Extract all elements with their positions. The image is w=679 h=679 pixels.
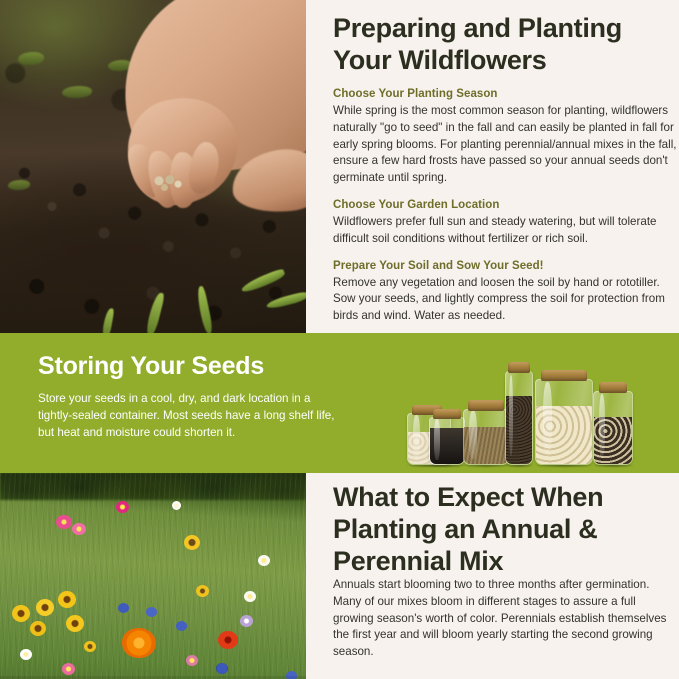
storing-text-column: Storing Your Seeds Store your seeds in a… — [38, 351, 338, 441]
block-prepare-soil: Prepare Your Soil and Sow Your Seed! Rem… — [333, 259, 679, 325]
flower-blue — [216, 663, 228, 674]
page-title-what-to-expect: What to Expect When Planting an Annual &… — [333, 481, 679, 577]
section-storing-your-seeds: Storing Your Seeds Store your seeds in a… — [0, 333, 679, 473]
flower-yellow — [196, 585, 209, 597]
flower-magenta — [116, 501, 129, 513]
jar-cork — [433, 409, 461, 419]
body-prepare-soil: Remove any vegetation and loosen the soi… — [333, 275, 679, 325]
wildflower-meadow-photo — [0, 473, 306, 679]
block-garden-location: Choose Your Garden Location Wildflowers … — [333, 198, 679, 248]
body-garden-location: Wildflowers prefer full sun and steady w… — [333, 214, 679, 248]
jar-cork — [541, 370, 587, 381]
flower-blue — [176, 621, 187, 631]
seed-jar-pumpkin-seeds — [535, 379, 593, 465]
jar-glass-highlight — [434, 419, 440, 460]
seed-jar-mixed-dark — [593, 391, 633, 465]
flower-pink — [186, 655, 198, 666]
seed-jar-tall-dark — [505, 371, 533, 465]
subheading-planting-season: Choose Your Planting Season — [333, 87, 679, 102]
flower-blue — [146, 607, 157, 617]
flower-yellow — [58, 591, 76, 608]
body-storing: Store your seeds in a cool, dry, and dar… — [38, 390, 338, 441]
jar-group — [375, 351, 665, 469]
jar-glass-highlight — [599, 394, 605, 458]
flower-yellow — [12, 605, 30, 622]
infographic-page: Preparing and Planting Your Wildflowers … — [0, 0, 679, 679]
flower-pink — [72, 523, 86, 535]
section-what-to-expect: What to Expect When Planting an Annual &… — [0, 473, 679, 679]
body-what-to-expect: Annuals start blooming two to three mont… — [333, 577, 679, 661]
jar-cork — [468, 400, 504, 411]
jar-glass-highlight — [543, 382, 552, 456]
flower-white — [258, 555, 270, 566]
jar-glass-highlight — [413, 415, 420, 460]
flower-yellow — [30, 621, 46, 636]
flower-yellow — [84, 641, 96, 652]
flower-yellow — [36, 599, 54, 616]
preparing-text-column: Preparing and Planting Your Wildflowers … — [333, 0, 679, 333]
page-title-preparing: Preparing and Planting Your Wildflowers — [333, 12, 679, 76]
jar-cork — [508, 362, 530, 373]
flower-white — [172, 501, 181, 510]
flower-yellow — [184, 535, 200, 550]
red-poppy-flower — [218, 631, 238, 649]
flower-white — [244, 591, 256, 602]
seed-jar-black-seeds — [429, 417, 465, 465]
flower-white — [20, 649, 32, 660]
seed-jar-fine-brown — [463, 409, 509, 465]
flower-pink — [56, 515, 72, 529]
flower-yellow — [66, 615, 84, 632]
seeds-in-hand — [150, 172, 186, 194]
flower-blue — [118, 603, 129, 613]
body-planting-season: While spring is the most common season f… — [333, 103, 679, 187]
jar-glass-highlight — [469, 411, 476, 459]
seed-jars-photo — [375, 351, 665, 469]
subheading-garden-location: Choose Your Garden Location — [333, 198, 679, 213]
section-preparing-and-planting: Preparing and Planting Your Wildflowers … — [0, 0, 679, 333]
what-to-expect-text-column: What to Expect When Planting an Annual &… — [333, 473, 679, 679]
flower-pink — [62, 663, 75, 675]
page-title-storing: Storing Your Seeds — [38, 351, 338, 381]
subheading-prepare-soil: Prepare Your Soil and Sow Your Seed! — [333, 259, 679, 274]
flower-lavender — [240, 615, 253, 627]
meadow-scene — [0, 473, 306, 679]
jar-cork — [599, 382, 627, 393]
soil-planting-photo — [0, 0, 306, 333]
orange-poppy-flower — [122, 628, 156, 658]
block-planting-season: Choose Your Planting Season While spring… — [333, 87, 679, 187]
